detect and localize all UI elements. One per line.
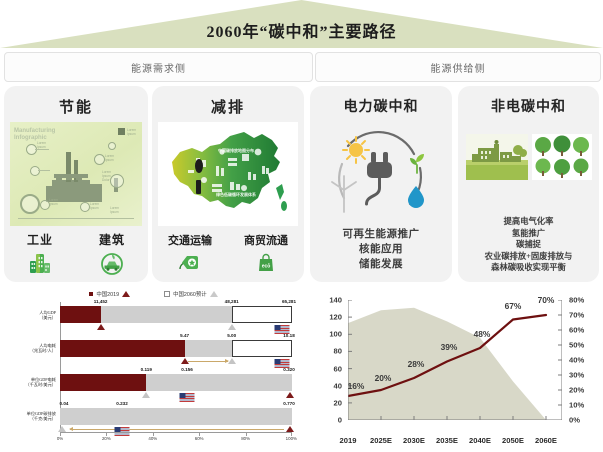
sub-item-transport[interactable]: 交通运输 (152, 232, 228, 276)
y-tick-label-right: 70% (569, 311, 599, 320)
industry-buildings-icon (27, 250, 53, 276)
card-emission-reduction[interactable]: 减排 (152, 86, 304, 282)
card-title-energy-saving: 节能 (4, 96, 148, 117)
legend-label: 中国2060预计 (173, 290, 207, 298)
x-tick-label: 2025E (370, 436, 392, 445)
card-title-power-carbon-neutral: 电力碳中和 (310, 96, 452, 116)
factory-infographic-illustration: ManufacturingInfographic LoremIpsum Lore… (10, 122, 142, 226)
x-tick-label: 100% (286, 436, 297, 441)
usa-flag-icon (180, 393, 195, 402)
legend-square-open-icon (164, 291, 170, 297)
bar-chart-legend: 中国2019 中国2060预计 (2, 290, 305, 298)
carbon-emission-area (348, 308, 546, 420)
bar-value-label: 0.232 (116, 401, 128, 406)
card-lines-power-carbon-neutral: 可再生能源推广 核能应用 储能发展 (310, 227, 452, 272)
green-plant-photo (466, 134, 528, 180)
card-line: 森林碳吸收实现平衡 (458, 262, 599, 274)
x-tick-label: 2060E (535, 436, 557, 445)
bar-value-label: 10.18 (283, 333, 295, 338)
card-line: 储能发展 (310, 257, 452, 272)
page-title: 2060年“碳中和”主要路径 (0, 18, 603, 42)
bar-open-usa (232, 340, 292, 357)
bar-value-label: 48,281 (225, 299, 239, 304)
bar-value-label: 5.00 (227, 333, 236, 338)
water-drop-icon (408, 186, 424, 208)
bar-row-label: 人均电耗（兆瓦时/人） (0, 343, 56, 354)
section-header-row: 能源需求侧 能源供给侧 (0, 52, 603, 82)
sub-items-energy-saving: 工业 (4, 231, 148, 276)
svg-text:绿色低碳循环发展体系: 绿色低碳循环发展体系 (216, 191, 256, 197)
renewable-cycle-illustration (318, 124, 444, 230)
legend-square-filled-icon (89, 292, 93, 296)
bar-fill-china-2019 (60, 340, 185, 357)
bar-value-label: 0.04 (60, 401, 69, 406)
marker-triangle-china-2060 (142, 392, 150, 398)
legend-label: 中国2019 (96, 290, 119, 298)
y-tick-label-right: 40% (569, 356, 599, 365)
y-tick-label-right: 20% (569, 386, 599, 395)
x-tick-label: 2040E (469, 436, 491, 445)
marker-triangle-china-2019 (286, 392, 294, 398)
x-tick-label: 2050E (502, 436, 524, 445)
bar-row-label: 人均GDP（美元） (0, 310, 56, 321)
card-line: 核能应用 (310, 242, 452, 257)
trees-photo (532, 134, 592, 180)
data-label: 16% (348, 381, 365, 391)
section-header-supply: 能源供给侧 (315, 52, 601, 82)
bar-value-label: 0.156 (181, 367, 193, 372)
section-header-demand: 能源需求侧 (4, 52, 313, 82)
svg-text:ecō: ecō (262, 264, 271, 270)
x-tick-label: 0% (57, 436, 63, 441)
bar-value-label: 0.119 (141, 367, 152, 372)
card-line: 提高电气化率 (458, 216, 599, 228)
data-label: 20% (375, 373, 392, 383)
legend-item-china-2060: 中国2060预计 (164, 290, 218, 298)
sub-item-label: 交通运输 (168, 232, 212, 248)
y-tick-label-right: 30% (569, 371, 599, 380)
data-label: 48% (474, 329, 491, 339)
bar-chart-panel: 中国2019 中国2060预计 人均GDP（美元） 11,452 48,281 … (2, 288, 305, 450)
y-tick-label-right: 10% (569, 401, 599, 410)
card-line: 氢能推广 (458, 228, 599, 240)
trend-arrow-right (188, 361, 228, 362)
y-tick-label-left: 60 (312, 364, 342, 373)
header-banner: 2060年“碳中和”主要路径 (0, 0, 603, 48)
x-tick-label: 80% (241, 436, 250, 441)
bar-chart-x-axis: 0% 20% 40% 60% 80% 100% (60, 432, 292, 445)
bar-row-label: 单位GDP电耗（千瓦时/美元） (0, 377, 56, 388)
legend-triangle-filled-icon (122, 291, 130, 297)
sprout-icon (410, 154, 424, 173)
y-tick-label-left: 40 (312, 381, 342, 390)
card-lines-non-power-carbon-neutral: 提高电气化率 氢能推广 碳捕捉 农业碳排放+固废排放与 森林碳吸收实现平衡 (458, 216, 599, 274)
y-tick-label-left: 100 (312, 330, 342, 339)
y-tick-label-left: 80 (312, 347, 342, 356)
sub-item-building[interactable]: 建筑 (76, 231, 148, 276)
bar-track (60, 408, 292, 425)
power-plug-icon (367, 152, 393, 204)
y-tick-label-left: 0 (312, 416, 342, 425)
x-tick-label: 40% (148, 436, 157, 441)
card-line: 农业碳排放+固废排放与 (458, 251, 599, 263)
legend-item-china-2019: 中国2019 (89, 290, 130, 298)
eco-bag-icon: ecō (253, 250, 279, 276)
sub-item-label: 商贸流通 (244, 232, 288, 248)
sub-item-commerce[interactable]: 商贸流通 ecō (228, 232, 304, 276)
svg-text:中国碳排放地图分布: 中国碳排放地图分布 (218, 147, 254, 153)
x-tick-label: 2035E (436, 436, 458, 445)
bar-chart-plot: 人均GDP（美元） 11,452 48,281 65,281 人均电耗（兆瓦时/… (60, 304, 292, 432)
y-tick-label-right: 0% (569, 416, 599, 425)
trend-arrow-left (70, 429, 284, 430)
card-energy-saving[interactable]: 节能 ManufacturingInfographic LoremIpsum L… (4, 86, 148, 282)
x-tick-label: 20% (102, 436, 111, 441)
marker-triangle-china-2060 (228, 324, 236, 330)
card-title-non-power-carbon-neutral: 非电碳中和 (458, 96, 599, 116)
green-vehicle-icon (99, 250, 125, 276)
sub-items-emission-reduction: 交通运输 商贸流通 ecō (152, 232, 304, 276)
card-power-carbon-neutral[interactable]: 电力碳中和 (310, 86, 452, 282)
bar-value-label: 0.770 (283, 401, 295, 406)
x-tick-label: 60% (195, 436, 204, 441)
sun-icon (343, 137, 369, 163)
china-map-illustration: 中国碳排放地图分布 绿色低碳循环发展体系 (158, 122, 298, 226)
data-label: 67% (505, 301, 522, 311)
y-tick-label-left: 20 (312, 398, 342, 407)
x-tick-label: 2019 (340, 436, 357, 445)
data-label: 28% (408, 359, 425, 369)
bar-fill-china-2019 (60, 306, 101, 323)
card-non-power-carbon-neutral[interactable]: 非电碳中和 (458, 86, 599, 282)
sub-item-label: 工业 (27, 231, 53, 248)
data-label: 70% (538, 295, 555, 305)
y-tick-label-right: 80% (569, 296, 599, 305)
y-tick-label-left: 120 (312, 313, 342, 322)
sub-item-label: 建筑 (99, 231, 125, 248)
line-area-chart-panel: 140 120 100 80 60 40 20 0 80% 70% 60% 50… (308, 288, 601, 450)
bar-row-label: 单位GDP碳排放（千克/美元） (0, 411, 56, 422)
bar-open-usa (232, 306, 292, 323)
bar-value-label: 65,281 (282, 299, 296, 304)
bar-value-label: 5.47 (180, 333, 189, 338)
line-area-chart-plot: 16% 20% 28% 39% 48% 67% 70% 2019 2025E 2… (348, 300, 562, 420)
bar-value-label: 0.320 (283, 367, 295, 372)
marker-triangle-china-2019 (97, 324, 105, 330)
transport-tag-icon (177, 250, 203, 276)
bar-value-label: 11,452 (94, 299, 108, 304)
y-tick-label-left: 140 (312, 296, 342, 305)
card-line: 可再生能源推广 (310, 227, 452, 242)
x-tick-label: 2030E (403, 436, 425, 445)
card-title-emission-reduction: 减排 (152, 96, 304, 117)
legend-triangle-open-icon (210, 291, 218, 297)
bar-fill-china-2019 (60, 374, 146, 391)
y-tick-label-right: 50% (569, 341, 599, 350)
data-label: 39% (441, 342, 458, 352)
y-tick-label-right: 60% (569, 326, 599, 335)
card-line: 碳捕捉 (458, 239, 599, 251)
wind-turbine-icon (332, 176, 356, 212)
sub-item-industry[interactable]: 工业 (4, 231, 76, 276)
